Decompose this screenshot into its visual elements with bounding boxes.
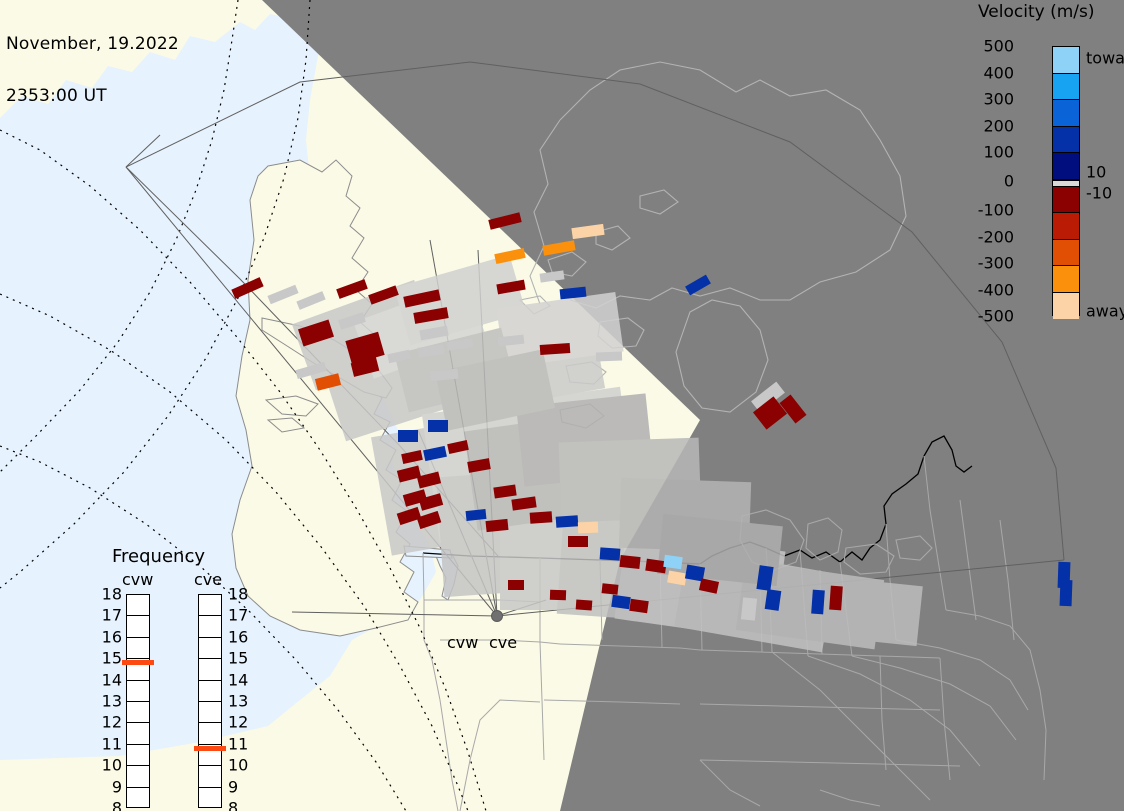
radar-echo-cell	[611, 595, 630, 609]
frequency-tick-cve-16: 16	[228, 627, 248, 646]
radar-label-cve: cve	[489, 633, 517, 652]
velocity-tick-500: 500	[983, 37, 1014, 56]
velocity-segment-toward-4	[1053, 153, 1079, 180]
frequency-cell	[127, 788, 149, 809]
frequency-cell	[127, 595, 149, 616]
frequency-tick-cve-15: 15	[228, 649, 248, 668]
velocity-segment-away-3	[1053, 266, 1079, 293]
frequency-tick-cve-10: 10	[228, 756, 248, 775]
radar-echo-cell	[600, 547, 621, 560]
velocity-mid-high-label: 10	[1086, 163, 1106, 182]
timestamp-block: November, 19.2022 2353:00 UT	[6, 1, 179, 140]
velocity-tick--500: -500	[978, 307, 1014, 326]
frequency-tick-cvw-17: 17	[96, 606, 122, 625]
radar-map-screenshot: cvw cve November, 19.2022 2353:00 UT Vel…	[0, 0, 1124, 811]
velocity-segment-toward-2	[1053, 100, 1079, 127]
velocity-away-label: away	[1086, 302, 1124, 321]
frequency-cell	[127, 766, 149, 787]
frequency-cell	[127, 745, 149, 766]
frequency-cell	[199, 702, 221, 723]
frequency-bar-cvw[interactable]	[126, 594, 150, 808]
radar-echo-cell	[428, 420, 448, 432]
time-text: 2353:00 UT	[6, 88, 179, 105]
radar-echo-cell	[466, 509, 487, 521]
frequency-cell	[127, 681, 149, 702]
velocity-segment-away-0	[1053, 187, 1079, 214]
frequency-tick-cvw-16: 16	[96, 627, 122, 646]
radar-echo-cell	[578, 522, 598, 534]
velocity-mid-low-label: -10	[1086, 184, 1112, 203]
velocity-tick-100: 100	[983, 143, 1014, 162]
radar-echo-cell	[602, 583, 619, 595]
radar-echo-cell	[629, 599, 648, 613]
frequency-tick-cvw-9: 9	[96, 777, 122, 796]
radar-echo-cell	[556, 515, 579, 528]
radar-echo-cell	[485, 519, 508, 532]
radar-echo-cell	[398, 430, 418, 442]
frequency-tick-cvw-8: 8	[96, 799, 122, 811]
velocity-tick--200: -200	[978, 227, 1014, 246]
velocity-segment-toward-1	[1053, 74, 1079, 101]
velocity-tick--300: -300	[978, 254, 1014, 273]
velocity-tick--400: -400	[978, 280, 1014, 299]
frequency-tick-cvw-14: 14	[96, 670, 122, 689]
frequency-bar-name-cvw: cvw	[122, 570, 153, 589]
radar-echo-cell	[576, 599, 593, 610]
velocity-tick-400: 400	[983, 63, 1014, 82]
velocity-segment-away-2	[1053, 240, 1079, 267]
frequency-cell	[127, 723, 149, 744]
frequency-cell	[199, 681, 221, 702]
frequency-cell	[199, 616, 221, 637]
frequency-cell	[199, 788, 221, 809]
radar-echo-cell	[568, 536, 588, 547]
frequency-marker-cvw	[122, 660, 154, 665]
radar-echo-cell	[550, 590, 566, 601]
velocity-segment-toward-0	[1053, 47, 1079, 74]
frequency-cell	[127, 702, 149, 723]
frequency-tick-cvw-13: 13	[96, 692, 122, 711]
frequency-tick-cve-11: 11	[228, 734, 248, 753]
date-text: November, 19.2022	[6, 36, 179, 53]
radar-echo-cell	[540, 343, 571, 355]
radar-echo-cell	[508, 580, 524, 590]
frequency-tick-cve-18: 18	[228, 585, 248, 604]
frequency-bar-name-cve: cve	[194, 570, 222, 589]
velocity-tick-300: 300	[983, 90, 1014, 109]
radar-echo-cell	[663, 555, 682, 569]
frequency-cell	[199, 595, 221, 616]
velocity-segment-away-4	[1053, 293, 1079, 320]
velocity-segment-toward-3	[1053, 127, 1079, 154]
frequency-tick-cvw-18: 18	[96, 585, 122, 604]
frequency-cell	[199, 723, 221, 744]
radar-echo-cell	[765, 589, 782, 611]
velocity-segment-away-1	[1053, 213, 1079, 240]
frequency-cell	[127, 638, 149, 659]
frequency-tick-cve-9: 9	[228, 777, 238, 796]
frequency-cell	[199, 766, 221, 787]
frequency-cell	[127, 616, 149, 637]
frequency-legend: Frequency cvw18171615141312111098cve1817…	[88, 546, 328, 806]
frequency-tick-cvw-15: 15	[96, 649, 122, 668]
frequency-bar-cve[interactable]	[198, 594, 222, 808]
frequency-legend-title: Frequency	[112, 546, 205, 567]
radar-site-marker[interactable]	[492, 611, 503, 622]
radar-label-cvw: cvw	[447, 633, 478, 652]
frequency-tick-cvw-12: 12	[96, 713, 122, 732]
frequency-tick-cvw-10: 10	[96, 756, 122, 775]
velocity-tick--100: -100	[978, 201, 1014, 220]
frequency-tick-cve-17: 17	[228, 606, 248, 625]
radar-echo-cell	[619, 555, 640, 569]
frequency-tick-cve-8: 8	[228, 799, 238, 811]
velocity-legend: Velocity (m/s) 5004003002001000-100-200-…	[968, 0, 1124, 340]
velocity-tick-0: 0	[1004, 172, 1014, 191]
radar-echo-cell	[741, 597, 757, 620]
velocity-legend-title: Velocity (m/s)	[978, 2, 1095, 22]
frequency-cell	[199, 659, 221, 680]
velocity-segment-zero	[1053, 180, 1079, 187]
frequency-marker-cve	[194, 746, 226, 751]
frequency-cell	[199, 638, 221, 659]
radar-echo-cell	[596, 352, 622, 362]
velocity-toward-label: toward	[1086, 49, 1124, 68]
velocity-colorbar[interactable]	[1052, 46, 1080, 316]
radar-echo-cell	[1060, 580, 1073, 606]
frequency-tick-cve-12: 12	[228, 713, 248, 732]
frequency-tick-cvw-11: 11	[96, 734, 122, 753]
radar-echo-cell	[829, 586, 843, 611]
frequency-tick-cve-13: 13	[228, 692, 248, 711]
radar-echo-cell	[530, 511, 553, 524]
radar-echo-cell	[811, 590, 825, 615]
velocity-tick-200: 200	[983, 116, 1014, 135]
frequency-tick-cve-14: 14	[228, 670, 248, 689]
